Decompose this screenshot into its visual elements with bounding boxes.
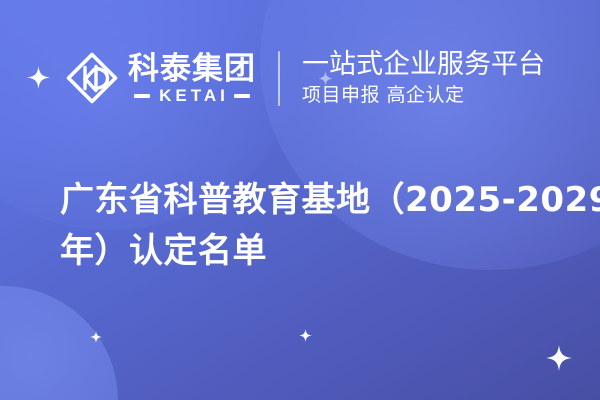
- wordmark-rule-right: [234, 94, 250, 98]
- sparkle-bottom-left-icon: [90, 331, 102, 343]
- banner-title: 广东省科普教育基地（2025-2029 年）认定名单: [60, 175, 560, 277]
- brand-wordmark: 科泰集团 KETAI: [128, 52, 256, 105]
- ketai-logo-icon: [64, 50, 120, 106]
- tagline-block: 一站式企业服务平台 项目申报 高企认定: [302, 49, 545, 108]
- promo-banner: 科泰集团 KETAI 一站式企业服务平台 项目申报 高企认定 广东省科普教育基地…: [0, 0, 600, 400]
- banner-title-line-2: 年）认定名单: [60, 226, 560, 277]
- brand-name-cn: 科泰集团: [128, 52, 256, 86]
- banner-header: 科泰集团 KETAI 一站式企业服务平台 项目申报 高企认定: [0, 42, 600, 114]
- sparkle-bottom-center-icon: [299, 329, 312, 342]
- banner-title-line-1: 广东省科普教育基地（2025-2029: [60, 175, 560, 226]
- sparkle-bottom-right-icon: [546, 345, 572, 371]
- tagline-secondary: 项目申报 高企认定: [302, 82, 545, 108]
- background-circle-bottom-left: [0, 286, 118, 400]
- brand-name-en-group: KETAI: [134, 87, 250, 105]
- wordmark-rule-left: [134, 94, 150, 98]
- header-divider: [278, 51, 280, 106]
- brand-name-en: KETAI: [155, 87, 229, 105]
- brand-logo: 科泰集团 KETAI: [64, 50, 256, 106]
- tagline-primary: 一站式企业服务平台: [302, 49, 545, 81]
